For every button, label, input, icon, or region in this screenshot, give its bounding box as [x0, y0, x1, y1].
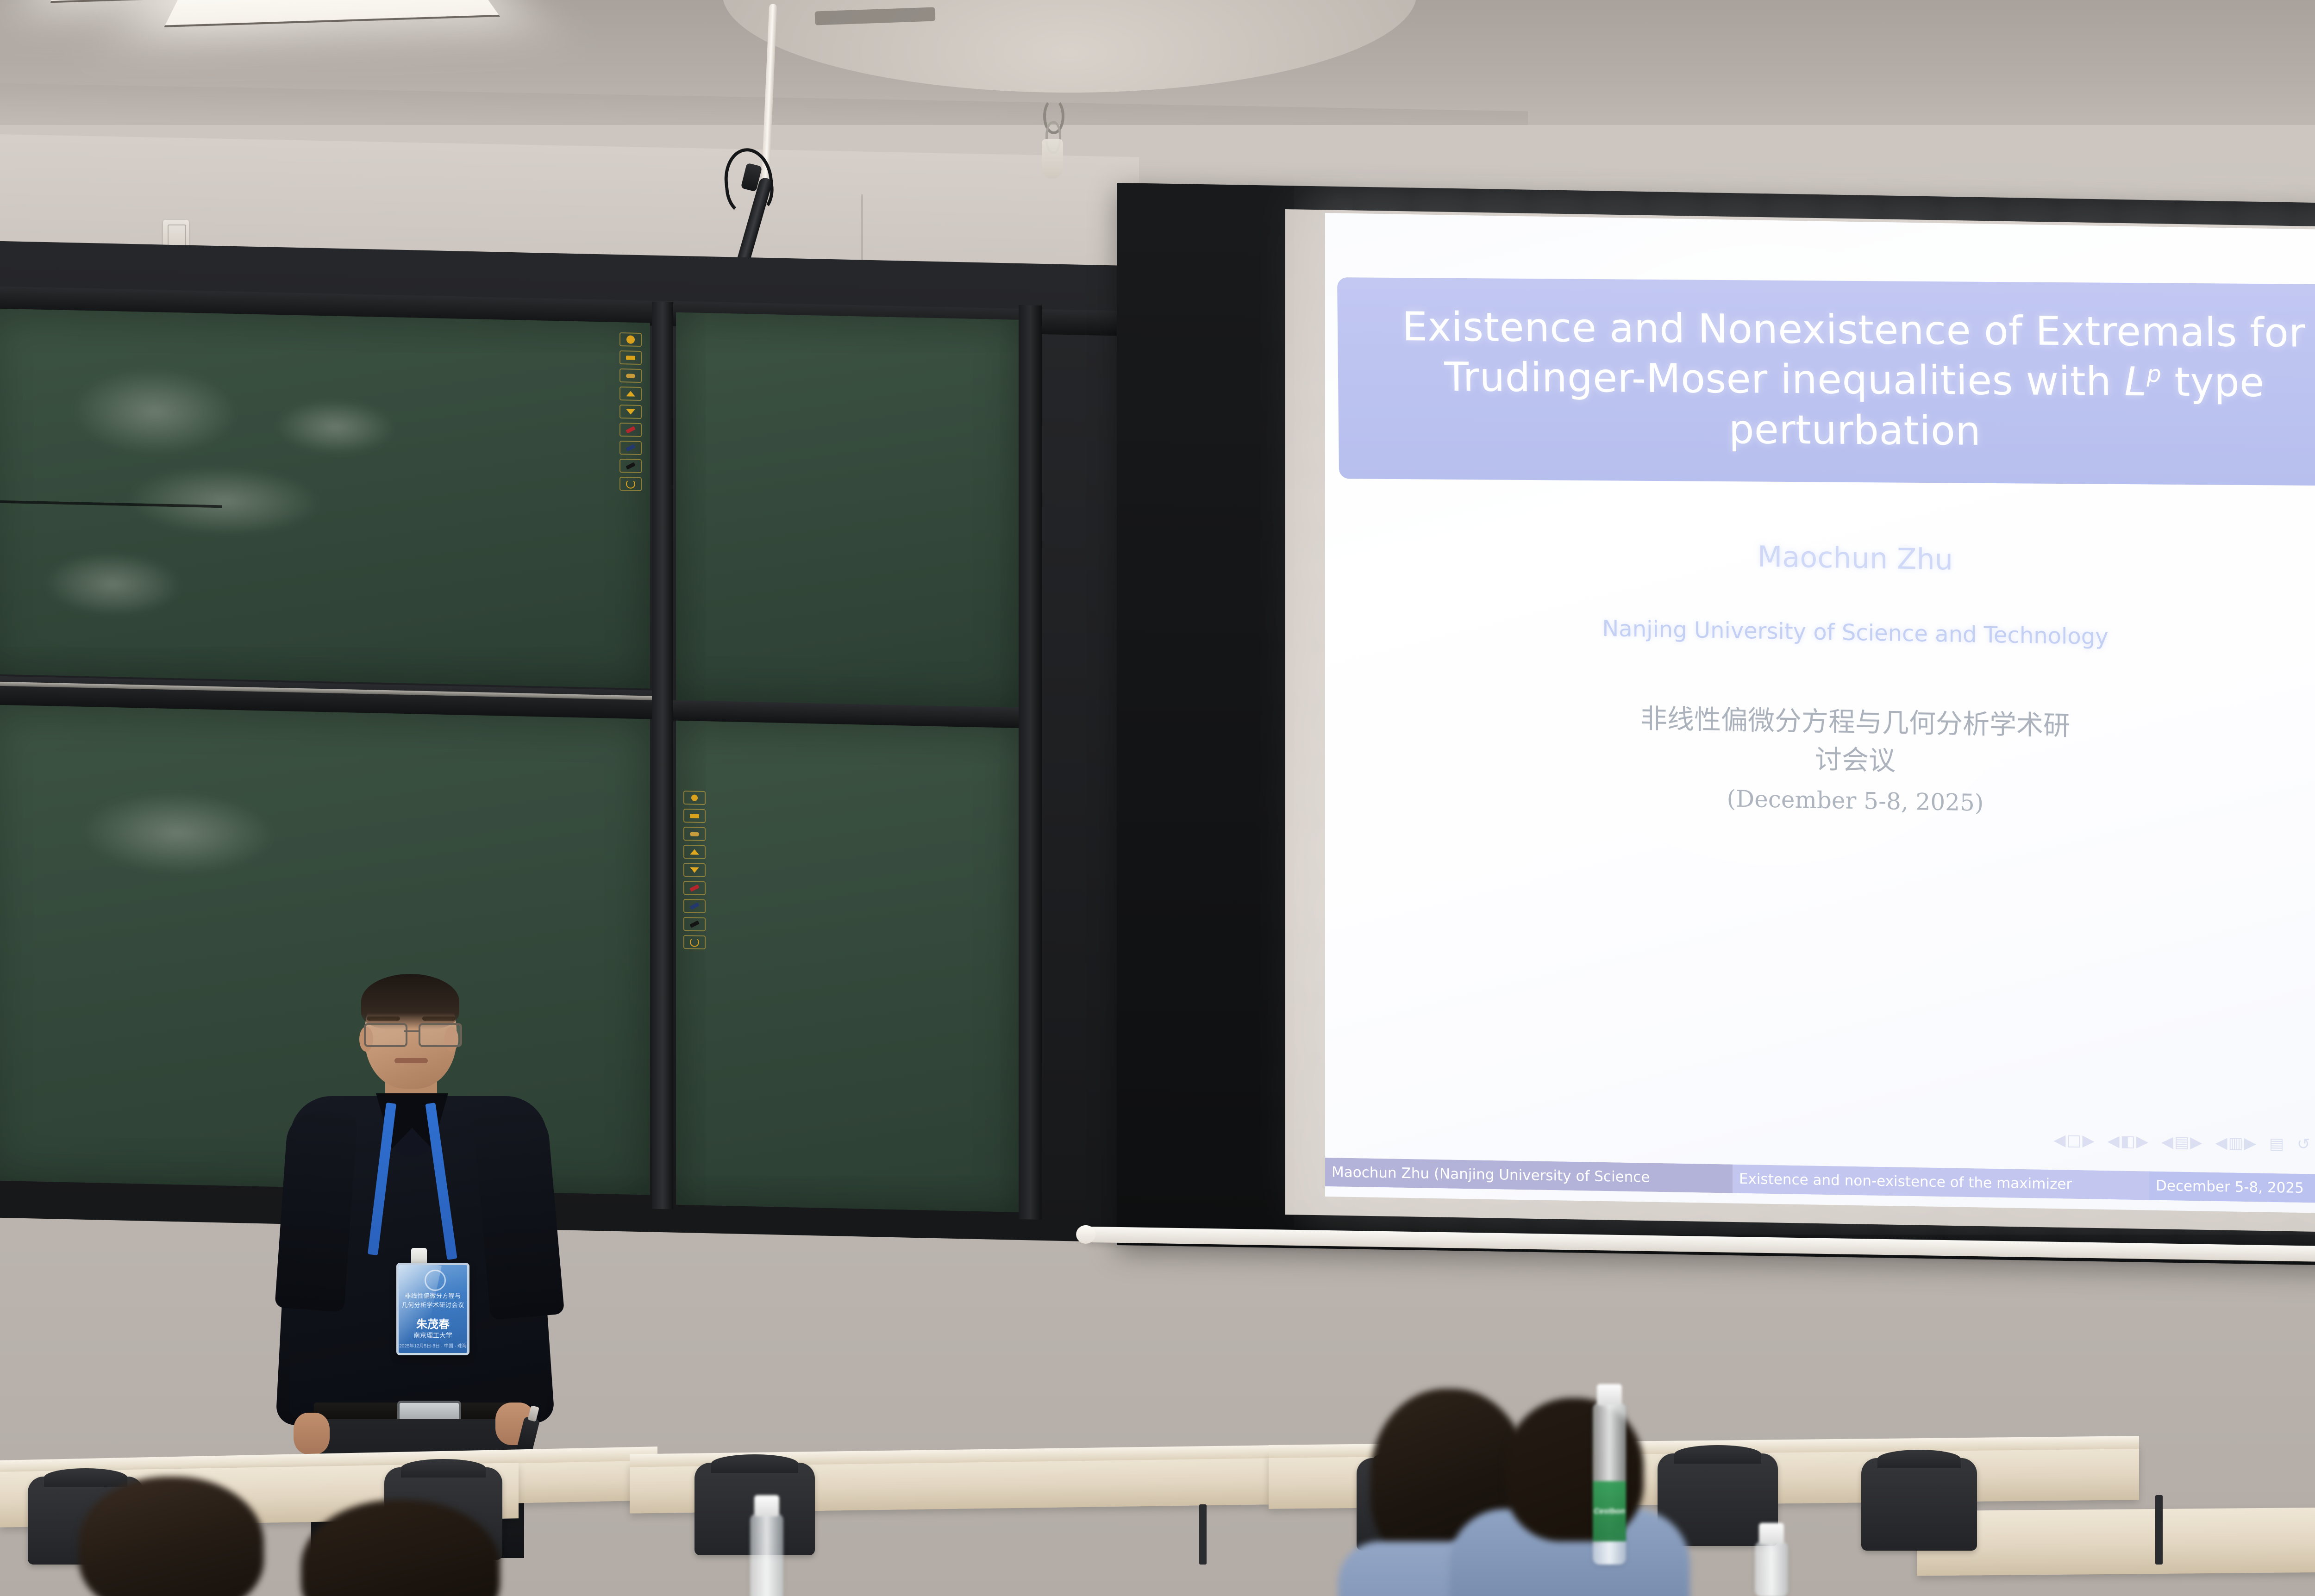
board-arrow-down-button[interactable]: [619, 405, 642, 419]
board-pen-red-button-2[interactable]: [683, 881, 706, 895]
board-undo-button[interactable]: [619, 477, 642, 491]
blackboard: [0, 241, 1130, 1241]
slide-title-line-2: Trudinger-Moser inequalities with Lp typ…: [1357, 352, 2315, 459]
audience-head-1: [79, 1477, 264, 1596]
blackboard-frame: [0, 241, 1130, 1242]
bottle-cap-3: [1759, 1523, 1784, 1544]
footer-right-segment: December 5-8, 2025 1 / 31: [2149, 1172, 2315, 1204]
board-display-button[interactable]: [619, 350, 642, 365]
board-control-strip-lower[interactable]: [683, 791, 706, 949]
audience-head-2: [301, 1500, 500, 1596]
slide-title-box: Existence and Nonexistence of Extremals …: [1337, 277, 2315, 486]
blackboard-panel-top-left: [0, 308, 650, 688]
board-undo-button-2[interactable]: [683, 935, 706, 949]
blackboard-vertical-divider: [652, 302, 673, 1209]
speaker-right-eyebrow: [422, 1016, 456, 1021]
nav-symbol-5[interactable]: ↺: [2297, 1135, 2311, 1154]
badge-glare: [396, 1263, 442, 1355]
board-arrow-up-button-2[interactable]: [683, 845, 706, 859]
nav-symbol-3[interactable]: ◀▥▶: [2215, 1134, 2257, 1153]
glasses-left-lens: [364, 1023, 407, 1047]
beamer-navigation-symbols[interactable]: ◀□▶ ◀◧▶ ◀▤▶ ◀▥▶ ▤ ↺ ↻: [2053, 1131, 2315, 1154]
blackboard-right-divider: [1019, 305, 1042, 1220]
nav-symbol-0[interactable]: ◀□▶: [2053, 1131, 2095, 1150]
slide-title-line-2-pre: Trudinger-Moser inequalities with: [1444, 354, 2125, 405]
board-pen-blue-button[interactable]: [619, 441, 642, 455]
audience-member-front-center: [301, 1500, 505, 1596]
audience-member-right-blue-shirt: [1449, 1426, 1690, 1596]
water-bottle-2[interactable]: Cestbon: [1593, 1403, 1626, 1565]
speaker-mouth: [394, 1058, 428, 1063]
audience-member-front-left: [79, 1477, 273, 1596]
nav-symbol-2[interactable]: ◀▤▶: [2161, 1133, 2203, 1152]
bottle-label: Cestbon: [1593, 1481, 1626, 1541]
water-bottle-3[interactable]: [1755, 1541, 1788, 1596]
glasses-right-lens: [419, 1023, 462, 1047]
speaker-hair: [361, 974, 459, 1029]
board-control-strip-upper[interactable]: [619, 332, 642, 491]
water-bottle-1[interactable]: [750, 1514, 783, 1596]
chair-6[interactable]: [1861, 1458, 1977, 1551]
board-display-button-2[interactable]: [683, 809, 706, 823]
slide-conference-date: (December 5-8, 2025): [1325, 779, 2315, 823]
screen-hook-tip: [1042, 139, 1063, 179]
table-leg-1: [1199, 1504, 1207, 1565]
footer-date: December 5-8, 2025: [2156, 1178, 2304, 1197]
conference-badge: 非线性偏微分方程与 几何分析学术研讨会议 朱茂春 南京理工大学 2025年12月…: [396, 1263, 469, 1355]
board-arrow-up-button[interactable]: [619, 387, 642, 401]
speaker-left-shoulder: [275, 1109, 358, 1312]
lecture-hall-screenshot: Existence and Nonexistence of Extremals …: [0, 0, 2315, 1596]
slide-affiliation: Nanjing University of Science and Techno…: [1325, 611, 2315, 655]
glasses-bridge: [404, 1030, 419, 1032]
bottle-cap-2: [1597, 1384, 1622, 1405]
bottle-cap-1: [754, 1495, 779, 1516]
board-pen-red-button[interactable]: [619, 423, 642, 437]
footer-author-segment: Maochun Zhu (Nanjing University of Scien…: [1325, 1158, 1733, 1193]
board-eraser-button-2[interactable]: [683, 827, 706, 841]
slide-conference-name: 非线性偏微分方程与几何分析学术研 讨会议: [1325, 694, 2315, 788]
board-pen-black-button[interactable]: [619, 459, 642, 473]
nav-symbol-1[interactable]: ◀◧▶: [2108, 1132, 2149, 1151]
footer-title-segment: Existence and non-existence of the maxim…: [1733, 1165, 2149, 1200]
table-leg-2: [2155, 1495, 2163, 1565]
board-power-button-2[interactable]: [683, 791, 706, 805]
speaker-left-hand: [294, 1413, 330, 1454]
slide-title-line-1: Existence and Nonexistence of Extremals …: [1356, 301, 2315, 358]
slide-author: Maochun Zhu: [1325, 532, 2315, 584]
projected-slide: Existence and Nonexistence of Extremals …: [1325, 213, 2315, 1214]
slide-title-math-base: L: [2124, 359, 2147, 405]
blackboard-panel-bottom-right: [676, 719, 1019, 1212]
board-eraser-button[interactable]: [619, 368, 642, 383]
slide-footer-bar: Maochun Zhu (Nanjing University of Scien…: [1325, 1158, 2315, 1204]
board-pen-black-button-2[interactable]: [683, 917, 706, 931]
speaker: 非线性偏微分方程与 几何分析学术研讨会议 朱茂春 南京理工大学 2025年12月…: [278, 972, 565, 1490]
slide-title-math-sup: p: [2146, 361, 2162, 387]
board-arrow-down-button-2[interactable]: [683, 863, 706, 877]
blackboard-panel-top-right: [676, 312, 1019, 709]
nav-symbol-4[interactable]: ▤: [2269, 1135, 2285, 1153]
glasses-icon: [364, 1023, 459, 1044]
speaker-left-eyebrow: [367, 1016, 400, 1021]
board-pen-blue-button-2[interactable]: [683, 899, 706, 913]
board-power-button[interactable]: [619, 332, 642, 347]
